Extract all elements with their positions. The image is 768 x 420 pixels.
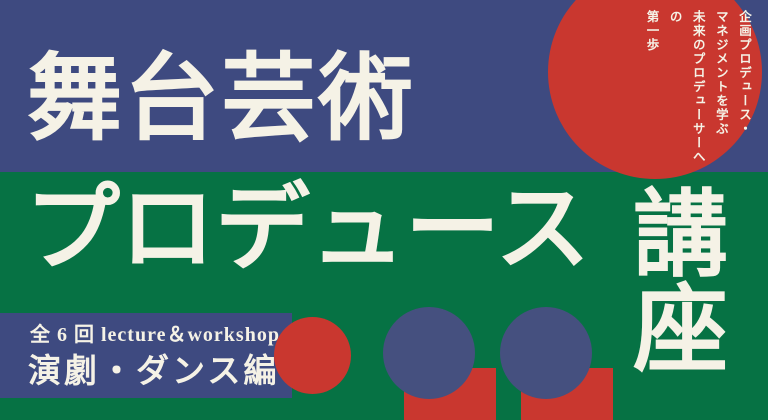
- decorative-circle-blue-1: [383, 307, 475, 399]
- title-line-3-vertical: 講座: [624, 184, 719, 396]
- tagline-line-4: 第一歩: [640, 10, 663, 165]
- title-line-1: 舞台芸術: [27, 52, 415, 147]
- decorative-circle-blue-2: [500, 307, 592, 399]
- tagline-line-1: 企画プロデュース・: [733, 10, 756, 165]
- title-line-2: プロデュース: [25, 182, 590, 277]
- tagline-line-2: マネジメントを学ぶ: [710, 10, 733, 165]
- decorative-circle-red-bottom: [274, 317, 351, 394]
- poster-canvas: 企画プロデュース・ マネジメントを学ぶ 未来のプロデューサーへの 第一歩 舞台芸…: [0, 0, 768, 420]
- tagline-line-3: 未来のプロデューサーへの: [664, 10, 710, 165]
- tagline-vertical: 企画プロデュース・ マネジメントを学ぶ 未来のプロデューサーへの 第一歩: [640, 10, 756, 165]
- subtitle-genre: 演劇・ダンス編: [28, 344, 279, 392]
- subtitle-session-count: 全 6 回 lecture＆workshop: [30, 318, 280, 347]
